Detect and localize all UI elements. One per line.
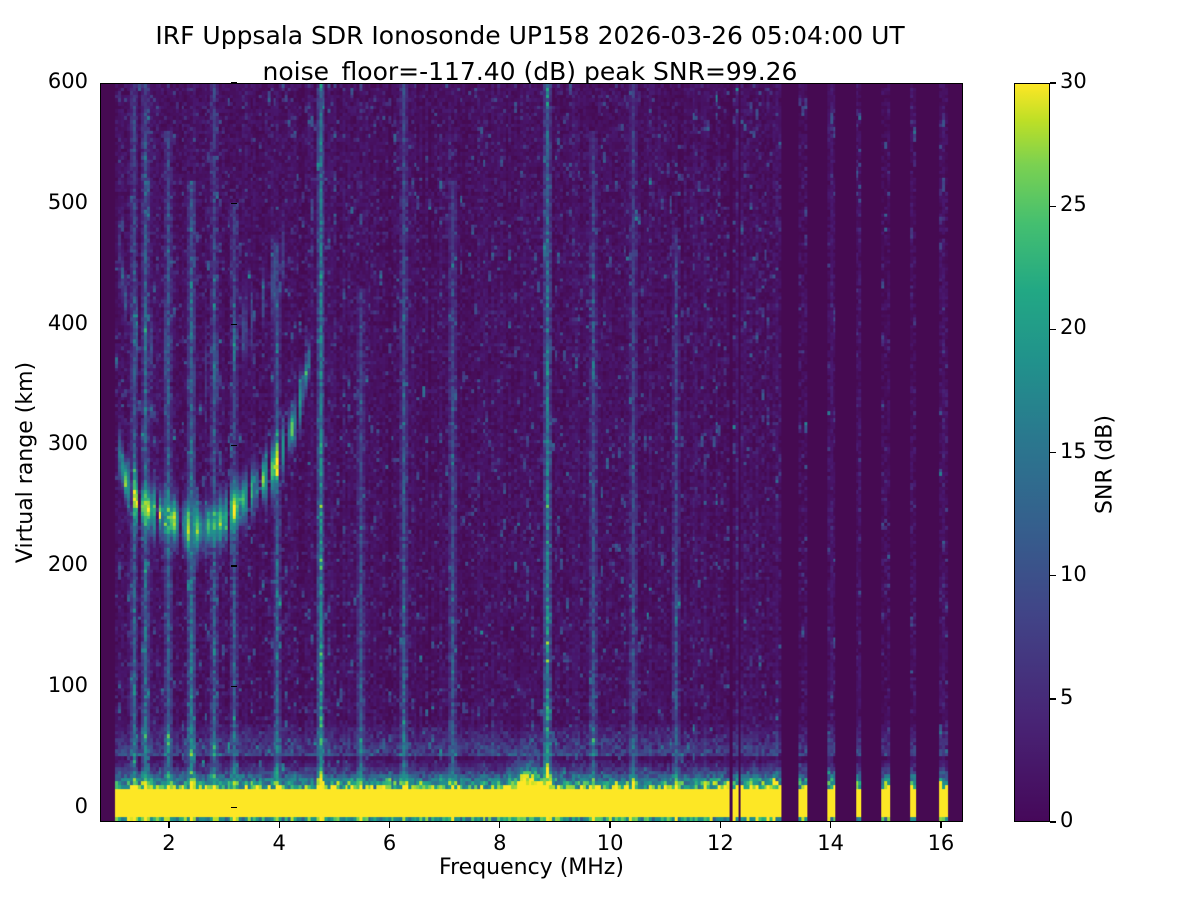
figure-title: IRF Uppsala SDR Ionosonde UP158 2026-03-… <box>0 18 1060 90</box>
x-tick-mark <box>720 822 721 828</box>
x-tick-label: 14 <box>801 831 861 855</box>
colorbar-tick-label: 30 <box>1060 69 1087 93</box>
colorbar-tick-mark <box>1050 329 1056 330</box>
y-tick-label: 200 <box>8 552 88 576</box>
colorbar-tick-label: 10 <box>1060 562 1087 586</box>
x-tick-label: 6 <box>360 831 420 855</box>
colorbar <box>1014 83 1050 822</box>
y-tick-label: 300 <box>8 431 88 455</box>
ionogram-figure: IRF Uppsala SDR Ionosonde UP158 2026-03-… <box>0 0 1200 900</box>
colorbar-tick-label: 5 <box>1060 685 1073 709</box>
x-tick-mark <box>940 822 941 828</box>
y-tick-mark <box>231 686 237 687</box>
colorbar-tick-label: 0 <box>1060 808 1073 832</box>
colorbar-tick-label: 20 <box>1060 315 1087 339</box>
title-line-1: IRF Uppsala SDR Ionosonde UP158 2026-03-… <box>155 21 904 50</box>
y-tick-mark <box>231 324 237 325</box>
colorbar-tick-mark <box>1050 575 1056 576</box>
x-tick-label: 2 <box>139 831 199 855</box>
x-tick-label: 10 <box>580 831 640 855</box>
colorbar-tick-mark <box>1050 206 1056 207</box>
colorbar-tick-label: 25 <box>1060 192 1087 216</box>
x-tick-mark <box>279 822 280 828</box>
ionogram-plot-area <box>100 83 963 822</box>
x-tick-mark <box>168 822 169 828</box>
colorbar-tick-mark <box>1050 82 1056 83</box>
x-tick-label: 8 <box>470 831 530 855</box>
y-tick-mark <box>231 82 237 83</box>
x-tick-mark <box>830 822 831 828</box>
colorbar-label: SNR (dB) <box>1093 230 1118 700</box>
ionogram-heatmap-canvas <box>101 84 962 821</box>
x-tick-label: 4 <box>249 831 309 855</box>
colorbar-tick-mark <box>1050 821 1056 822</box>
y-tick-mark <box>231 807 237 808</box>
colorbar-tick-mark <box>1050 452 1056 453</box>
x-tick-mark <box>499 822 500 828</box>
y-tick-mark <box>231 565 237 566</box>
y-tick-label: 500 <box>8 190 88 214</box>
x-tick-label: 16 <box>911 831 971 855</box>
y-tick-mark <box>231 203 237 204</box>
y-tick-label: 0 <box>8 794 88 818</box>
y-tick-label: 400 <box>8 311 88 335</box>
x-axis-label: Frequency (MHz) <box>100 855 963 880</box>
colorbar-tick-label: 15 <box>1060 439 1087 463</box>
colorbar-tick-mark <box>1050 698 1056 699</box>
y-tick-label: 100 <box>8 673 88 697</box>
x-tick-mark <box>609 822 610 828</box>
y-tick-mark <box>231 445 237 446</box>
y-tick-label: 600 <box>8 69 88 93</box>
x-tick-mark <box>389 822 390 828</box>
x-tick-label: 12 <box>690 831 750 855</box>
